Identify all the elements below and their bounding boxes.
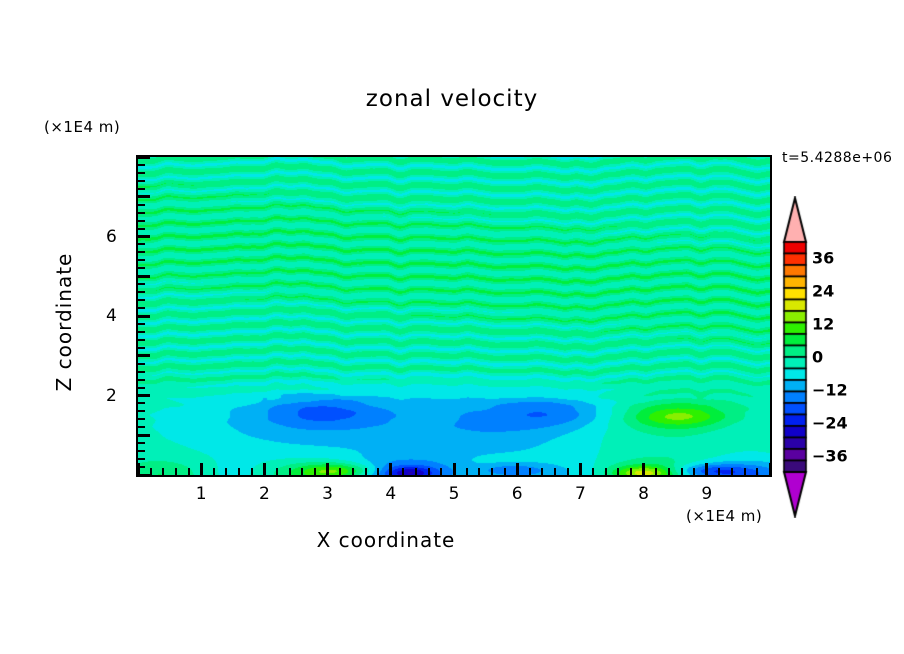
- tick-mark: [491, 468, 493, 475]
- tick-mark: [138, 387, 145, 389]
- tick-mark: [579, 463, 582, 475]
- tick-mark: [138, 307, 145, 309]
- tick-mark: [516, 463, 519, 475]
- tick-mark: [138, 220, 145, 222]
- tick-mark: [377, 468, 379, 475]
- tick-mark: [655, 468, 657, 475]
- tick-mark: [188, 468, 190, 475]
- tick-mark: [415, 468, 417, 475]
- x-tick-label: 4: [385, 484, 396, 504]
- tick-mark: [138, 323, 145, 325]
- tick-mark: [326, 463, 329, 475]
- y-tick-label: 2: [106, 386, 117, 406]
- colorbar-tick-label: 36: [812, 249, 834, 268]
- tick-mark: [605, 468, 607, 475]
- tick-mark: [138, 466, 145, 468]
- tick-mark: [175, 468, 177, 475]
- tick-mark: [138, 164, 145, 166]
- colorbar: [778, 196, 814, 518]
- tick-mark: [138, 235, 150, 238]
- tick-mark: [289, 468, 291, 475]
- tick-mark: [138, 363, 145, 365]
- tick-mark: [138, 228, 145, 230]
- x-tick-label: 2: [259, 484, 270, 504]
- tick-mark: [138, 291, 145, 293]
- tick-mark: [138, 418, 145, 420]
- tick-mark: [263, 463, 266, 475]
- tick-mark: [630, 468, 632, 475]
- tick-mark: [365, 468, 367, 475]
- tick-mark: [138, 156, 150, 159]
- tick-mark: [138, 315, 150, 318]
- tick-mark: [681, 468, 683, 475]
- tick-mark: [138, 394, 150, 397]
- time-annotation: t=5.4288e+06: [782, 150, 892, 166]
- tick-mark: [138, 371, 145, 373]
- tick-mark: [138, 283, 145, 285]
- colorbar-tick-label: −12: [812, 380, 848, 399]
- tick-mark: [693, 468, 695, 475]
- tick-mark: [138, 275, 150, 278]
- tick-mark: [440, 468, 442, 475]
- tick-mark: [428, 468, 430, 475]
- tick-mark: [238, 468, 240, 475]
- tick-mark: [138, 267, 145, 269]
- x-axis-unit-label: (×1E4 m): [686, 507, 762, 525]
- tick-mark: [567, 468, 569, 475]
- tick-mark: [504, 468, 506, 475]
- contour-field: [138, 157, 770, 475]
- tick-mark: [251, 468, 253, 475]
- x-tick-label: 1: [196, 484, 207, 504]
- x-tick-label: 8: [638, 484, 649, 504]
- x-tick-label: 3: [322, 484, 333, 504]
- tick-mark: [668, 468, 670, 475]
- tick-mark: [138, 474, 150, 477]
- tick-mark: [138, 450, 145, 452]
- tick-mark: [138, 259, 145, 261]
- tick-mark: [731, 468, 733, 475]
- y-axis-title: Z coordinate: [52, 222, 76, 422]
- tick-mark: [453, 463, 456, 475]
- tick-mark: [138, 426, 145, 428]
- x-tick-label: 7: [575, 484, 586, 504]
- tick-mark: [138, 402, 145, 404]
- tick-mark: [389, 463, 392, 475]
- colorbar-tick-label: 12: [812, 315, 834, 334]
- tick-mark: [138, 204, 145, 206]
- tick-mark: [705, 463, 708, 475]
- colorbar-tick-label: 24: [812, 282, 834, 301]
- x-axis-title: X coordinate: [0, 528, 772, 552]
- tick-mark: [718, 468, 720, 475]
- colorbar-tick-label: 0: [812, 348, 823, 367]
- y-tick-label: 6: [106, 227, 117, 247]
- tick-mark: [138, 243, 145, 245]
- tick-mark: [592, 468, 594, 475]
- tick-mark: [225, 468, 227, 475]
- y-axis-unit-label: (×1E4 m): [44, 118, 120, 136]
- tick-mark: [478, 468, 480, 475]
- tick-mark: [138, 339, 145, 341]
- tick-mark: [352, 468, 354, 475]
- tick-mark: [200, 463, 203, 475]
- tick-mark: [138, 251, 145, 253]
- tick-mark: [138, 299, 145, 301]
- x-tick-label: 9: [701, 484, 712, 504]
- tick-mark: [138, 331, 145, 333]
- tick-mark: [314, 468, 316, 475]
- tick-mark: [138, 172, 145, 174]
- x-tick-label: 6: [512, 484, 523, 504]
- tick-mark: [138, 379, 145, 381]
- chart-title: zonal velocity: [0, 86, 904, 112]
- tick-mark: [617, 468, 619, 475]
- tick-mark: [541, 468, 543, 475]
- tick-mark: [466, 468, 468, 475]
- tick-mark: [756, 468, 758, 475]
- x-tick-label: 5: [449, 484, 460, 504]
- colorbar-tick-label: −24: [812, 413, 848, 432]
- tick-mark: [213, 468, 215, 475]
- tick-mark: [138, 354, 150, 357]
- tick-mark: [138, 458, 145, 460]
- tick-mark: [769, 463, 772, 475]
- tick-mark: [138, 180, 145, 182]
- tick-mark: [162, 468, 164, 475]
- tick-mark: [138, 212, 145, 214]
- tick-mark: [138, 188, 145, 190]
- y-tick-label: 4: [106, 306, 117, 326]
- contour-plot-area: [136, 155, 772, 477]
- tick-mark: [138, 434, 150, 437]
- tick-mark: [301, 468, 303, 475]
- tick-mark: [744, 468, 746, 475]
- tick-mark: [138, 410, 145, 412]
- tick-mark: [138, 195, 150, 198]
- tick-mark: [339, 468, 341, 475]
- tick-mark: [138, 347, 145, 349]
- tick-mark: [138, 442, 145, 444]
- tick-mark: [554, 468, 556, 475]
- tick-mark: [276, 468, 278, 475]
- colorbar-gradient: [778, 196, 814, 518]
- tick-mark: [529, 468, 531, 475]
- colorbar-tick-label: −36: [812, 446, 848, 465]
- tick-mark: [642, 463, 645, 475]
- tick-mark: [402, 468, 404, 475]
